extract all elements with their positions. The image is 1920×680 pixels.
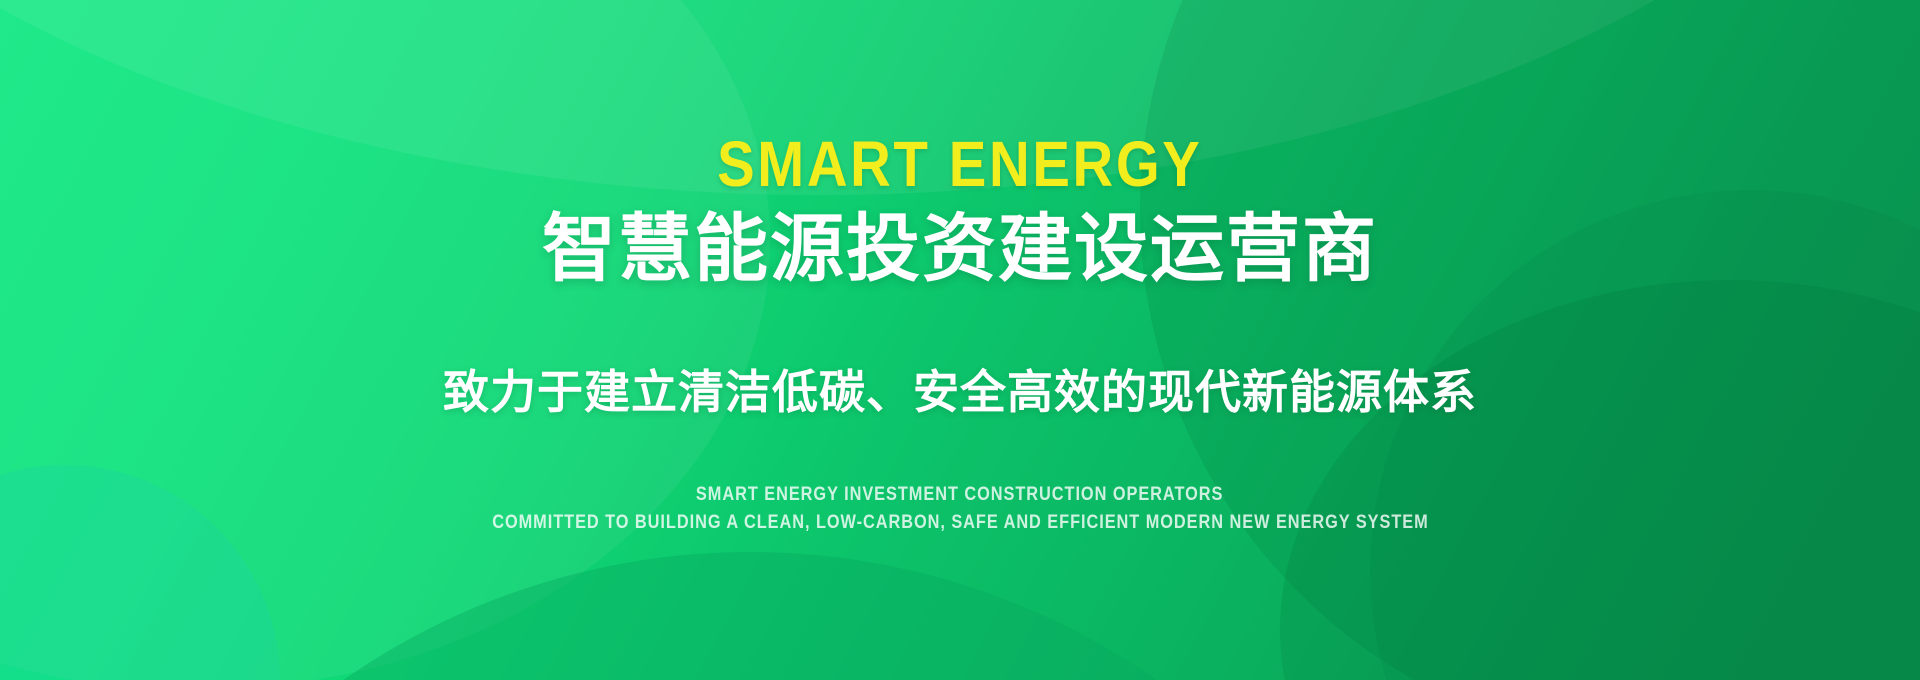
banner-content: SMART ENERGY 智慧能源投资建设运营商 致力于建立清洁低碳、安全高效的… [0,0,1920,680]
tagline-english-line-2: COMMITTED TO BUILDING A CLEAN, LOW-CARBO… [492,511,1428,535]
tagline-english-line-1: SMART ENERGY INVESTMENT CONSTRUCTION OPE… [696,483,1223,507]
tagline-group: SMART ENERGY INVESTMENT CONSTRUCTION OPE… [416,483,1505,536]
subheadline-chinese: 致力于建立清洁低碳、安全高效的现代新能源体系 [443,365,1477,420]
headline-english: SMART ENERGY [717,132,1202,196]
hero-banner: SMART ENERGY 智慧能源投资建设运营商 致力于建立清洁低碳、安全高效的… [0,0,1920,680]
headline-chinese: 智慧能源投资建设运营商 [542,210,1378,288]
